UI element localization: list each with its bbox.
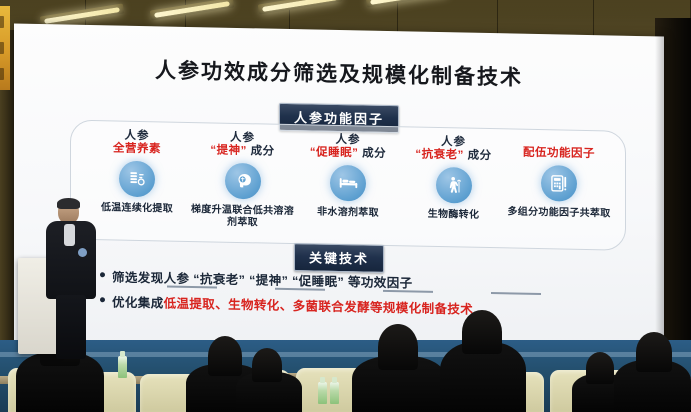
factor-column-4: 人参 “抗衰老” 成分 生物酶转化 [402,135,506,222]
factor-label: 人参 “促睡眠” 成分 [310,133,386,160]
factor-caption: 多组分功能因子共萃取 [508,206,611,221]
factor-caption: 低温连续化提取 [101,202,173,216]
speaker-legs [56,295,86,359]
projection-screen: 人参功效成分筛选及规模化制备技术 人参功能因子 人参 全营养素 [14,23,664,366]
key-technology-bullets: 筛选发现人参 “抗衰老” “提神” “促睡眠” 等功效因子 优化集成低温提取、生… [100,266,620,326]
water-bottle [330,382,339,404]
audience-head [252,348,282,382]
factor-label: 人参 “提神” 成分 [210,131,274,158]
page-title: 人参功效成分筛选及规模化制备技术 [14,51,664,94]
factor-column-5: 配伍功能因子 [507,137,611,220]
stage-edge-strip [0,352,691,357]
water-bottle [118,356,127,378]
screen-edge-shadow [655,36,664,366]
calculator-document-icon [541,165,577,202]
factor-caption: 梯度升温联合低共溶溶剂萃取 [191,204,295,231]
list-item: 优化集成低温提取、生物转化、多菌联合发酵等规模化制备技术 [100,291,620,320]
bullet-dot-icon [100,272,105,277]
factor-column-1: 人参 全营养素 [85,129,189,216]
elderly-person-icon [436,167,472,204]
bullet-dot-icon [100,297,105,302]
factor-flow-card: 人参 全营养素 [70,120,626,251]
layers-extract-icon [119,160,155,197]
factor-label: 配伍功能因子 [523,138,595,161]
factor-column-2: 人参 “提神” 成分 梯度升温联合低共溶溶剂萃取 [191,131,295,231]
speaker-hair [57,198,80,209]
factor-caption: 非水溶剂萃取 [317,206,379,220]
factor-label: 人参 “抗衰老” 成分 [415,136,491,163]
screenshot-root: 人参功效成分筛选及规模化制备技术 人参功能因子 人参 全营养素 [0,0,691,412]
audience-head [462,310,502,354]
speaker-shirt [64,224,75,246]
factor-caption: 生物酶转化 [428,209,480,223]
brain-head-icon [225,162,261,199]
factor-column-3: 人参 “促睡眠” 成分 非水溶剂萃取 [296,133,400,220]
audience-head [586,352,614,384]
podium-banner [0,6,10,90]
bullet-text: 优化集成低温提取、生物转化、多菌联合发酵等规模化制备技术 [112,291,473,317]
water-bottle [318,382,327,404]
speaker-presenter [44,200,100,360]
list-item: 筛选发现人参 “抗衰老” “提神” “促睡眠” 等功效因子 [100,266,620,295]
audience-head [636,332,672,372]
audience-head [208,336,242,376]
factor-label: 人参 全营养素 [113,129,161,156]
bed-sleep-icon [330,165,366,202]
status-badge-key-technology: 关键技术 [294,243,384,273]
audience-head [378,324,418,370]
speaker-badge [78,248,87,257]
